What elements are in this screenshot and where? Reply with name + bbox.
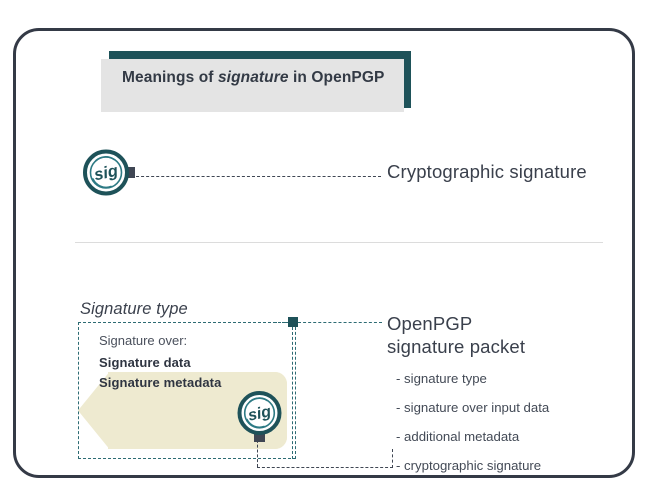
connector-node-right	[298, 322, 382, 323]
page-title: Meanings of signature in OpenPGP	[122, 68, 387, 89]
section-divider	[75, 242, 603, 243]
title-emphasis: signature	[218, 69, 289, 86]
signature-data-label: Signature data	[99, 355, 191, 370]
packet-field-list: - signature type - signature over input …	[396, 371, 549, 487]
signature-type-group-label: Signature type	[80, 300, 188, 319]
connector-bottom-vertical-left	[257, 435, 258, 467]
connector-node-down	[292, 327, 293, 459]
list-item: - cryptographic signature	[396, 458, 549, 473]
sig-magnifier-icon: sig	[235, 389, 285, 445]
title-box: Meanings of signature in OpenPGP	[101, 59, 404, 112]
packet-title-line2: signature packet	[387, 335, 525, 358]
openpgp-packet-title: OpenPGP signature packet	[387, 312, 525, 358]
signature-over-caption: Signature over:	[99, 333, 187, 348]
title-prefix: Meanings of	[122, 69, 218, 86]
signature-metadata-label: Signature metadata	[99, 375, 221, 390]
packet-title-line1: OpenPGP	[387, 312, 525, 335]
connector-bottom-vertical-right	[392, 449, 393, 468]
sig-magnifier-icon: sig	[82, 148, 136, 198]
connector-bottom-horizontal	[257, 467, 393, 468]
cryptographic-signature-label: Cryptographic signature	[387, 161, 587, 183]
connector-node-square	[288, 317, 298, 327]
list-item: - signature over input data	[396, 400, 549, 415]
list-item: - signature type	[396, 371, 549, 386]
diagram-card: Meanings of signature in OpenPGP sig Cry…	[13, 28, 635, 478]
title-suffix: in OpenPGP	[289, 69, 385, 86]
connector-node-left	[274, 322, 289, 323]
connector-crypto-signature	[131, 176, 381, 177]
list-item: - additional metadata	[396, 429, 549, 444]
